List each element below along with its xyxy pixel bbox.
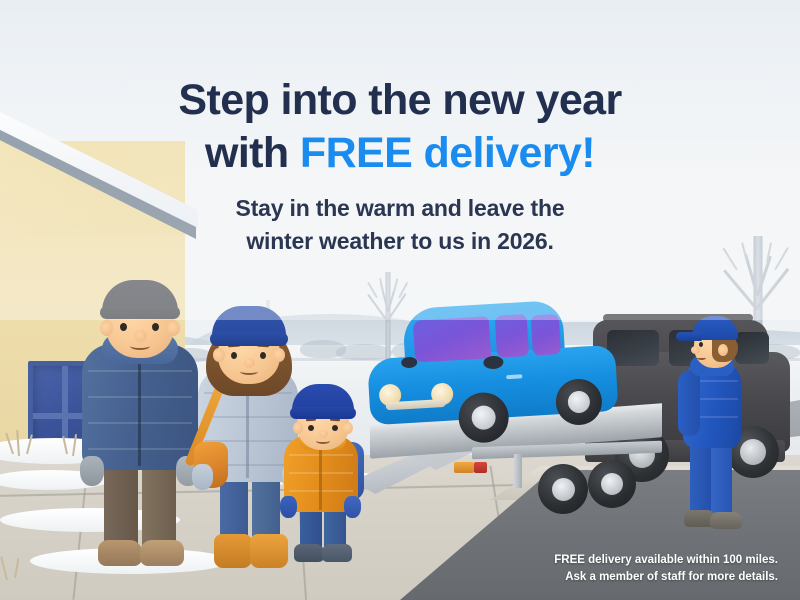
child-coat-zip bbox=[319, 440, 322, 510]
car-rear-window bbox=[531, 314, 561, 356]
father-coat-zip bbox=[138, 348, 141, 466]
father-glove-left bbox=[80, 456, 104, 486]
father bbox=[82, 278, 202, 578]
father-nose bbox=[134, 330, 147, 342]
staff-arm bbox=[678, 370, 700, 436]
child-boot-left bbox=[294, 544, 324, 562]
staff-ear bbox=[718, 344, 728, 356]
child-hat-brim bbox=[290, 407, 356, 419]
trailer-taillight-red bbox=[474, 462, 487, 473]
child-eye-left bbox=[308, 425, 314, 431]
father-eye-right bbox=[152, 323, 159, 331]
father-mouth bbox=[130, 342, 150, 350]
child-ear-left bbox=[293, 422, 303, 434]
father-boot-left bbox=[98, 540, 142, 566]
mother-hat-brim bbox=[210, 332, 288, 346]
child-eye-right bbox=[332, 425, 338, 431]
mother-ear-right bbox=[273, 348, 285, 362]
disclaimer: FREE delivery available within 100 miles… bbox=[358, 552, 778, 586]
mother-mouth bbox=[240, 368, 258, 375]
car-windscreen bbox=[413, 316, 491, 362]
car-front-window bbox=[495, 314, 529, 358]
child bbox=[282, 384, 368, 576]
trailer-indicator-amber bbox=[454, 462, 474, 473]
headline-line-2: with FREE delivery! bbox=[0, 127, 800, 180]
trailer-hub-front bbox=[601, 473, 623, 495]
staff-nose bbox=[691, 346, 700, 354]
promotional-banner: Step into the new year with FREE deliver… bbox=[0, 0, 800, 600]
child-glove-left bbox=[280, 496, 297, 518]
disclaimer-line-2: Ask a member of staff for more details. bbox=[358, 569, 778, 586]
mother-ear-left bbox=[213, 348, 225, 362]
subheadline-line-1: Stay in the warm and leave the bbox=[0, 192, 800, 225]
child-mouth bbox=[316, 438, 330, 444]
father-eye-left bbox=[120, 323, 127, 331]
trailer-hub-rear bbox=[552, 478, 575, 501]
headline-line-1: Step into the new year bbox=[0, 74, 800, 127]
child-nose bbox=[319, 430, 328, 438]
child-boot-right bbox=[322, 544, 352, 562]
staff-leg-right bbox=[711, 438, 732, 518]
disclaimer-line-1: FREE delivery available within 100 miles… bbox=[358, 552, 778, 569]
child-glove-right bbox=[344, 496, 361, 518]
staff-eye bbox=[699, 342, 703, 347]
headline-highlight: FREE delivery! bbox=[300, 129, 595, 177]
headline: Step into the new year with FREE deliver… bbox=[0, 74, 800, 180]
staff-leg-left bbox=[690, 440, 711, 518]
father-ear-right bbox=[167, 320, 180, 336]
father-boot-right bbox=[140, 540, 184, 566]
trailer-support-post bbox=[514, 454, 522, 488]
mother-nose bbox=[244, 358, 255, 368]
father-ear-left bbox=[100, 320, 113, 336]
staff-cap-peak bbox=[676, 332, 702, 341]
staff-mouth bbox=[697, 356, 706, 360]
mother-eye-right bbox=[260, 352, 266, 359]
child-ear-right bbox=[343, 422, 353, 434]
mother-glove-left bbox=[192, 464, 213, 490]
mother-boot-left bbox=[214, 534, 252, 568]
staff-member bbox=[678, 312, 748, 542]
subheadline: Stay in the warm and leave the winter we… bbox=[0, 192, 800, 258]
mother-eye-left bbox=[231, 352, 237, 359]
headline-prefix: with bbox=[205, 129, 300, 177]
staff-boot-right bbox=[710, 512, 742, 529]
subheadline-line-2: winter weather to us in 2026. bbox=[0, 225, 800, 258]
